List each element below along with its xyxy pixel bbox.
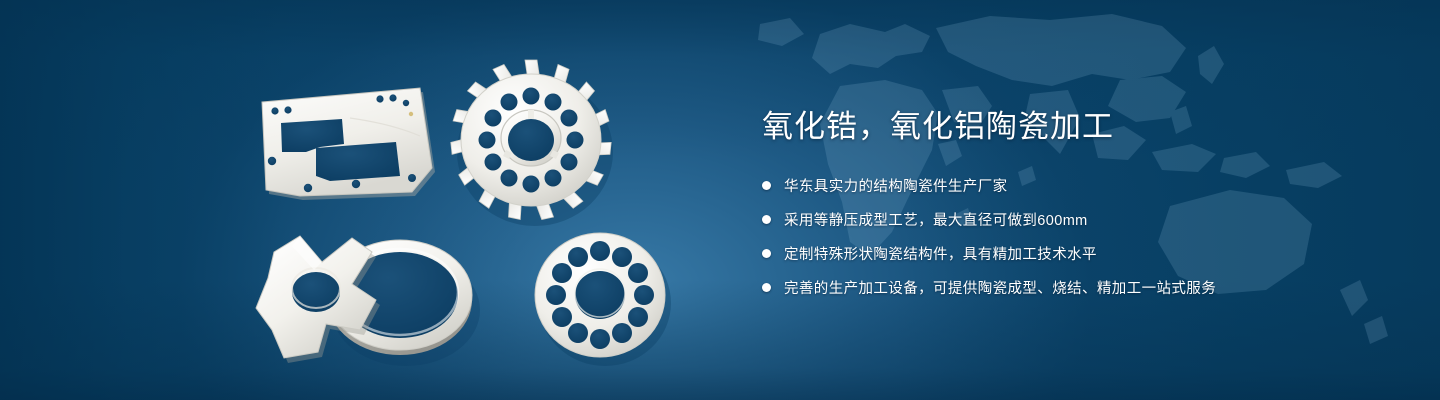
banner-copy: 氧化锆，氧化铝陶瓷加工 华东具实力的结构陶瓷件生产厂家 采用等静压成型工艺，最大… [762,108,1382,298]
page-title: 氧化锆，氧化铝陶瓷加工 [762,108,1382,147]
hero-banner: 氧化锆，氧化铝陶瓷加工 华东具实力的结构陶瓷件生产厂家 采用等静压成型工艺，最大… [0,0,1440,400]
list-item-label: 完善的生产加工设备，可提供陶瓷成型、烧结、精加工一站式服务 [784,277,1216,298]
list-item-label: 定制特殊形状陶瓷结构件，具有精加工技术水平 [784,243,1097,264]
bullet-dot-icon [762,283,771,292]
list-item: 定制特殊形状陶瓷结构件，具有精加工技术水平 [762,243,1382,264]
feature-list: 华东具实力的结构陶瓷件生产厂家 采用等静压成型工艺，最大直径可做到600mm 定… [762,175,1382,298]
ceramic-perforated-disc-part [535,233,671,366]
list-item: 完善的生产加工设备，可提供陶瓷成型、烧结、精加工一站式服务 [762,277,1382,298]
list-item-label: 采用等静压成型工艺，最大直径可做到600mm [784,209,1088,230]
bullet-dot-icon [762,249,771,258]
product-photo-group [0,0,720,400]
ceramic-impeller-part [450,60,613,226]
list-item-label: 华东具实力的结构陶瓷件生产厂家 [784,175,1008,196]
bullet-dot-icon [762,181,771,190]
list-item: 华东具实力的结构陶瓷件生产厂家 [762,175,1382,196]
ceramic-plate-part [262,88,435,200]
list-item: 采用等静压成型工艺，最大直径可做到600mm [762,209,1382,230]
bullet-dot-icon [762,215,771,224]
